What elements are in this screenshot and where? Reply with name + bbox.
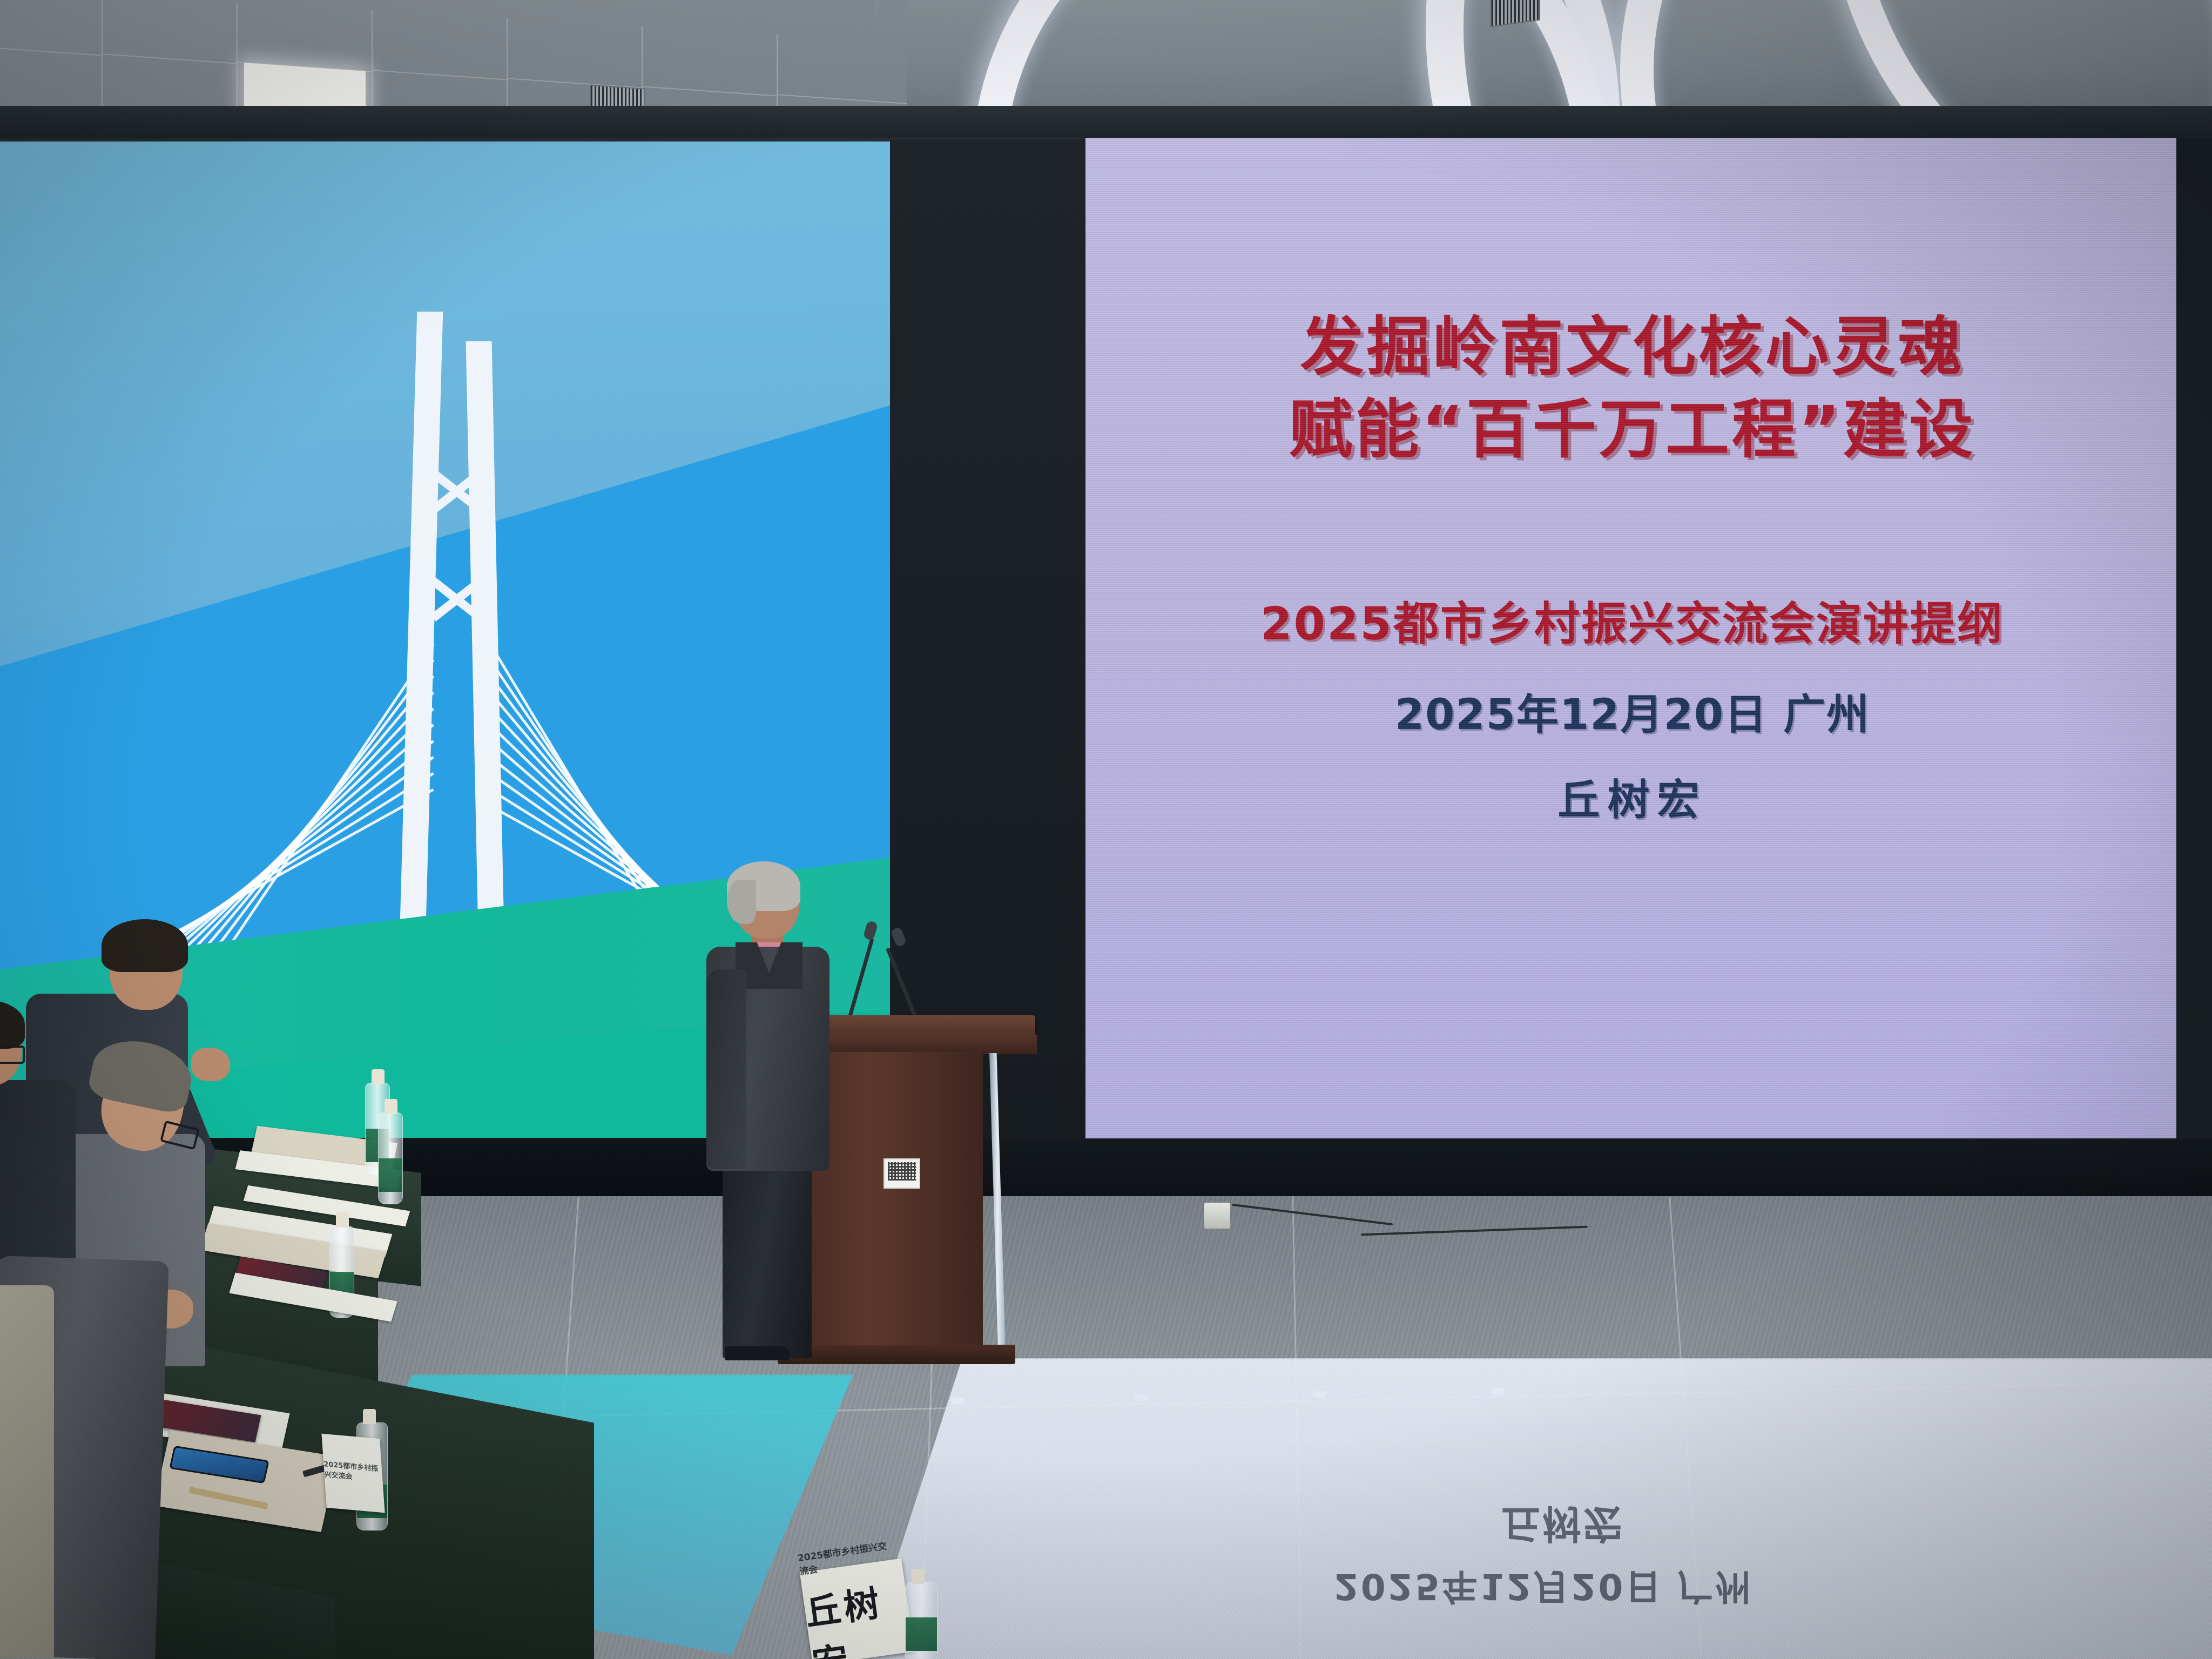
- slide-title-line2: 赋能“百千万工程”建设: [1289, 388, 1975, 471]
- slide-bottom-bezel: [890, 1138, 2212, 1198]
- conference-scene: 发掘岭南文化核心灵魂 赋能“百千万工程”建设 2025都市乡村振兴交流会演讲提纲…: [0, 0, 2212, 1659]
- name-card-event-1: 2025都市乡村振兴交流会: [323, 1458, 383, 1484]
- slide-subtitle: 2025都市乡村振兴交流会演讲提纲: [1260, 588, 2004, 653]
- speaker-person: [702, 861, 842, 1364]
- slide-right-bezel: [2176, 138, 2212, 1143]
- presentation-slide: 发掘岭南文化核心灵魂 赋能“百千万工程”建设 2025都市乡村振兴交流会演讲提纲…: [1085, 138, 2179, 1139]
- speaker-legs: [723, 1164, 812, 1358]
- slide-author: 丘树宏: [1557, 766, 1707, 827]
- water-bottle-2: [378, 1112, 403, 1204]
- water-bottle-5: [905, 1582, 938, 1659]
- glasses-icon-2: [0, 1046, 25, 1064]
- qr-code-icon: [884, 1158, 920, 1189]
- name-card-bottom: 2025都市乡村振兴交流会 丘树宏: [800, 1559, 914, 1659]
- slide-title-line1: 发掘岭南文化核心灵魂: [1289, 306, 1975, 388]
- screen-divider-panel: [890, 139, 1087, 1144]
- speaker-shoe: [725, 1346, 790, 1360]
- floor-speaker-box: [1204, 1203, 1230, 1229]
- slide-title: 发掘岭南文化核心灵魂 赋能“百千万工程”建设: [1289, 306, 1975, 471]
- name-card-front: 2025都市乡村振兴交流会: [321, 1434, 385, 1513]
- speaker-arm: [706, 969, 746, 1169]
- floor-reflection-date: 2025年12月20日 广州: [1334, 1563, 1753, 1615]
- name-card-name-0: 丘树宏: [801, 1570, 918, 1659]
- draped-jacket-lining: [0, 1285, 54, 1658]
- floor-reflection-author: 丘树宏: [1501, 1499, 1624, 1555]
- slide-date-place: 2025年12月20日 广州: [1395, 681, 1870, 741]
- speaker-hair-side: [727, 880, 756, 924]
